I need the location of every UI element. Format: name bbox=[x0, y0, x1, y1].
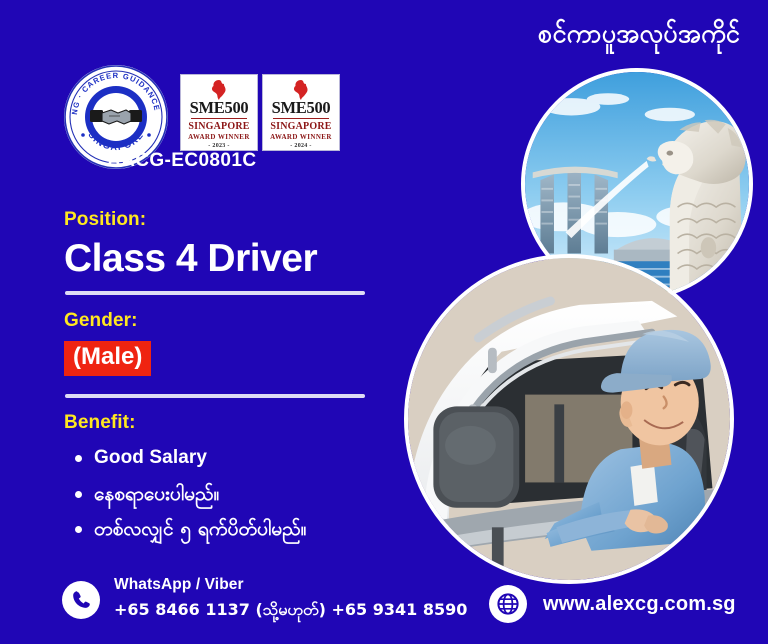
award-year: - 2024 - bbox=[290, 143, 311, 149]
footer-website[interactable]: www.alexcg.com.sg bbox=[489, 585, 736, 623]
benefit-item: နေစရာပေးပါမည်။ bbox=[64, 482, 307, 507]
benefit-list: Good Salary နေစရာပေးပါမည်။ တစ်လလျှင် ၅ ရ… bbox=[64, 446, 307, 542]
website-url[interactable]: www.alexcg.com.sg bbox=[543, 593, 736, 616]
position-block: Position: Class 4 Driver bbox=[64, 209, 317, 280]
benefit-label: Benefit: bbox=[64, 412, 307, 434]
award-rule bbox=[191, 118, 247, 119]
award-badge-2023: SME500 SINGAPORE AWARD WINNER - 2023 - bbox=[180, 74, 258, 151]
award-country: SINGAPORE bbox=[188, 121, 249, 132]
award-badges: SME500 SINGAPORE AWARD WINNER - 2023 - S… bbox=[180, 74, 340, 151]
contact-channel: WhatsApp / Viber bbox=[114, 576, 467, 594]
award-accolade: AWARD WINNER bbox=[188, 133, 250, 141]
contact-numbers[interactable]: +65 8466 1137 (သို့မဟုတ်) +65 9341 8590 bbox=[114, 599, 467, 623]
benefit-item: Good Salary bbox=[64, 446, 307, 471]
driver-illustration bbox=[408, 258, 730, 580]
licence-number: AACG-EC0801C bbox=[107, 150, 256, 172]
gender-label: Gender: bbox=[64, 310, 151, 332]
phone-glyph bbox=[71, 589, 92, 610]
award-title: SME500 bbox=[272, 100, 331, 117]
globe-icon[interactable] bbox=[489, 585, 527, 623]
gender-badge: (Male) bbox=[64, 341, 151, 376]
truck-driver-photo bbox=[404, 254, 734, 584]
award-rule bbox=[273, 118, 329, 119]
award-accolade: AWARD WINNER bbox=[270, 133, 332, 141]
header-burmese-title: စင်ကာပူအလုပ်အကိုင် bbox=[538, 18, 740, 49]
phone-icon[interactable] bbox=[62, 581, 100, 619]
position-value: Class 4 Driver bbox=[64, 239, 317, 280]
award-title: SME500 bbox=[190, 100, 249, 117]
position-label: Position: bbox=[64, 209, 317, 231]
benefit-item: တစ်လလျှင် ၅ ရက်ပိတ်ပါမည်။ bbox=[64, 517, 307, 542]
job-advert-poster: စင်ကာပူအလုပ်အကိုင် bbox=[0, 0, 768, 644]
award-country: SINGAPORE bbox=[270, 121, 331, 132]
award-badge-2024: SME500 SINGAPORE AWARD WINNER - 2024 - bbox=[262, 74, 340, 151]
footer-contact[interactable]: WhatsApp / Viber +65 8466 1137 (သို့မဟုတ… bbox=[62, 576, 467, 623]
benefit-block: Benefit: Good Salary နေစရာပေးပါမည်။ တစ်လ… bbox=[64, 412, 307, 553]
gender-block: Gender: (Male) bbox=[64, 310, 151, 376]
divider-gender bbox=[65, 394, 365, 398]
divider-position bbox=[65, 291, 365, 295]
contact-lines: WhatsApp / Viber +65 8466 1137 (သို့မဟုတ… bbox=[114, 576, 467, 623]
award-year: - 2023 - bbox=[208, 143, 229, 149]
globe-glyph bbox=[496, 592, 520, 616]
